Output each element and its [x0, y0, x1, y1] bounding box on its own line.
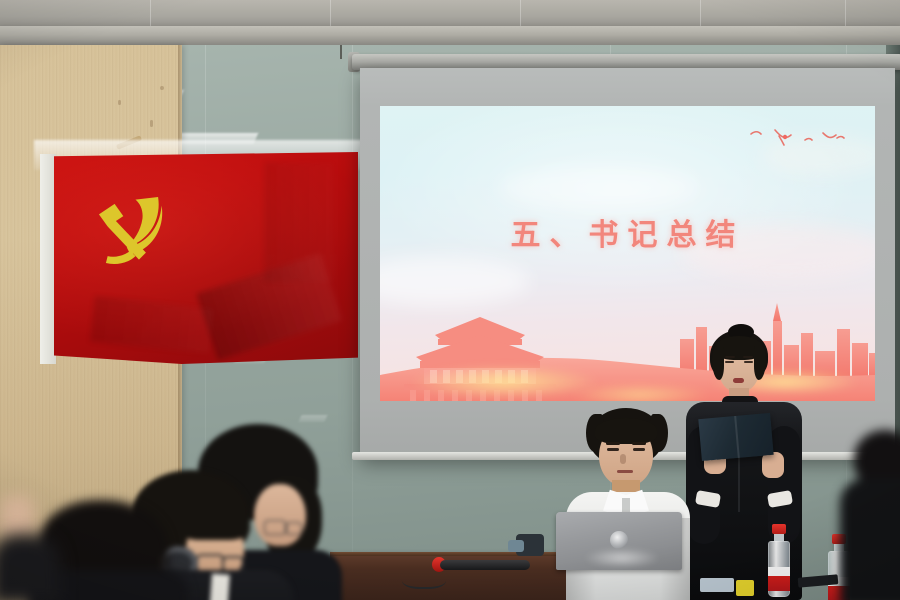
audience-far-left — [0, 534, 60, 600]
flying-birds-icon — [745, 122, 855, 156]
seated-operator — [562, 408, 692, 600]
water-bottle-left — [768, 524, 790, 597]
cpc-party-flag — [40, 152, 358, 367]
audience-right-edge — [846, 430, 900, 600]
screen-power-cord — [340, 45, 342, 59]
presenter-folder — [698, 413, 773, 461]
desk-papers — [700, 578, 734, 592]
bottle-cap — [772, 524, 786, 534]
flag-hoist-band — [40, 154, 56, 364]
hp-logo-icon — [610, 531, 628, 549]
photo-scene: 五、书记总结 — [0, 0, 900, 600]
desk-small-object — [508, 540, 524, 552]
hammer-and-sickle-icon — [88, 190, 176, 270]
microphone-cable — [402, 569, 446, 589]
microphone[interactable] — [440, 560, 530, 570]
slide-title: 五、书记总结 — [380, 210, 875, 254]
bottle-label — [768, 567, 790, 591]
desk-sticky-note — [736, 580, 754, 596]
